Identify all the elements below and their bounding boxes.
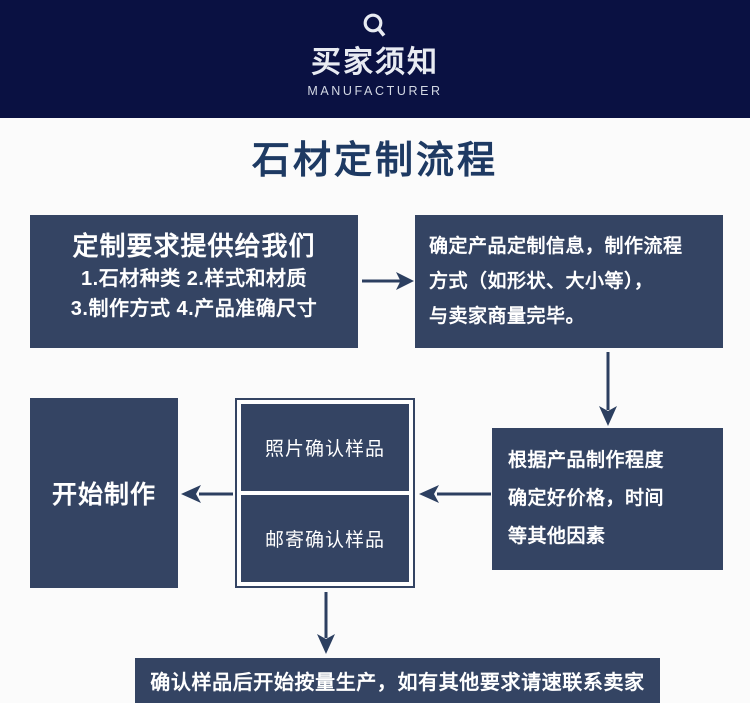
- flow-box-requirements: 定制要求提供给我们 1.石材种类 2.样式和材质 3.制作方式 4.产品准确尺寸: [30, 215, 358, 348]
- confirm-info-line-2: 方式（如形状、大小等），: [429, 264, 711, 299]
- confirm-info-line-1: 确定产品定制信息，制作流程: [429, 229, 711, 264]
- flow-box-confirm-info: 确定产品定制信息，制作流程 方式（如形状、大小等）， 与卖家商量完毕。: [415, 215, 723, 348]
- arrow-samples-to-bottom: [313, 592, 339, 654]
- sample-photo-label: 照片确认样品: [265, 434, 385, 461]
- arrow-samples-to-start: [181, 481, 233, 507]
- sample-cell-mail: 邮寄确认样品: [241, 495, 409, 582]
- pricing-line-2: 确定好价格，时间: [508, 480, 713, 518]
- header-subtitle: MANUFACTURER: [307, 84, 442, 98]
- bottom-note-label: 确认样品后开始按量生产，如有其他要求请速联系卖家: [150, 666, 644, 695]
- flow-box-bottom-note: 确认样品后开始按量生产，如有其他要求请速联系卖家: [135, 658, 660, 703]
- flow-box-start-production: 开始制作: [30, 398, 178, 588]
- flow-box-samples: 照片确认样品 邮寄确认样品: [235, 398, 415, 588]
- header-title: 买家须知: [311, 46, 439, 80]
- page-header: 买家须知 MANUFACTURER: [0, 0, 750, 118]
- start-production-label: 开始制作: [52, 475, 156, 511]
- requirements-line-2: 3.制作方式 4.产品准确尺寸: [38, 295, 350, 323]
- page-title: 石材定制流程: [0, 138, 750, 184]
- arrow-pricing-to-samples: [419, 481, 491, 507]
- requirements-line-1: 1.石材种类 2.样式和材质: [38, 265, 350, 293]
- requirements-heading: 定制要求提供给我们: [38, 229, 350, 263]
- magnifier-icon: [358, 10, 392, 44]
- sample-cell-photo: 照片确认样品: [241, 404, 409, 491]
- confirm-info-line-3: 与卖家商量完毕。: [429, 299, 711, 334]
- flow-box-pricing: 根据产品制作程度 确定好价格，时间 等其他因素: [492, 428, 723, 570]
- arrow-confirm-to-pricing: [595, 352, 621, 426]
- pricing-line-1: 根据产品制作程度: [508, 442, 713, 480]
- pricing-line-3: 等其他因素: [508, 518, 713, 556]
- arrow-requirements-to-confirm: [362, 268, 414, 294]
- sample-mail-label: 邮寄确认样品: [265, 525, 385, 552]
